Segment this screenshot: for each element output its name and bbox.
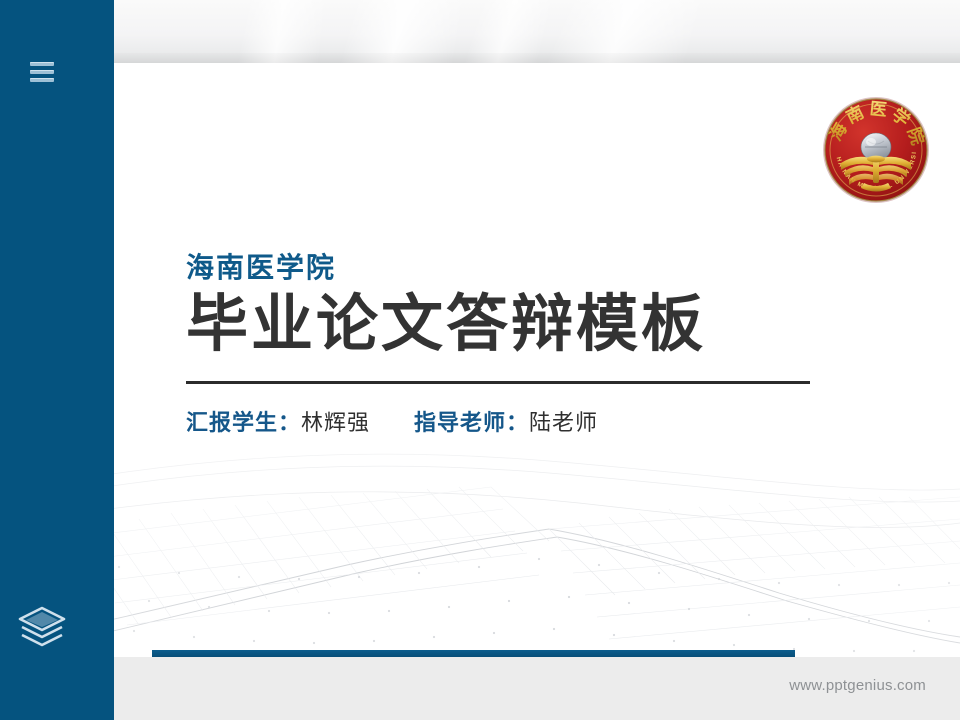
wireframe-mesh-wave <box>79 417 960 657</box>
school-name: 海南医学院 <box>186 253 886 284</box>
top-decoration-band <box>114 0 960 63</box>
menu-bar-1 <box>30 62 54 66</box>
menu-bar-3 <box>30 78 54 82</box>
advisor-name: 陆老师 <box>529 410 598 435</box>
slide-viewer: www.pptgenius.com <box>0 0 960 720</box>
meta-row: 汇报学生：林辉强指导老师：陆老师 <box>186 410 886 436</box>
menu-bar-2 <box>30 70 54 74</box>
footer-band: www.pptgenius.com <box>114 657 960 720</box>
student-label: 汇报学生： <box>186 410 301 435</box>
left-rail <box>0 0 114 720</box>
page-title: 毕业论文答辩模板 <box>186 290 886 359</box>
slide-canvas: 海南医学院 HAINAN MEDICAL UNIVERSITY <box>79 63 960 657</box>
title-divider <box>186 381 810 384</box>
website-url: www.pptgenius.com <box>789 677 926 694</box>
student-name: 林辉强 <box>301 410 370 435</box>
university-seal-icon: 海南医学院 HAINAN MEDICAL UNIVERSITY <box>821 95 931 205</box>
advisor-label: 指导老师： <box>414 410 529 435</box>
hamburger-menu-icon[interactable] <box>26 58 58 86</box>
title-block: 海南医学院 毕业论文答辩模板 汇报学生：林辉强指导老师：陆老师 <box>186 253 886 437</box>
layers-stack-icon[interactable] <box>14 602 70 650</box>
band-shadow <box>114 53 960 63</box>
slide-accent-bar <box>152 650 795 657</box>
